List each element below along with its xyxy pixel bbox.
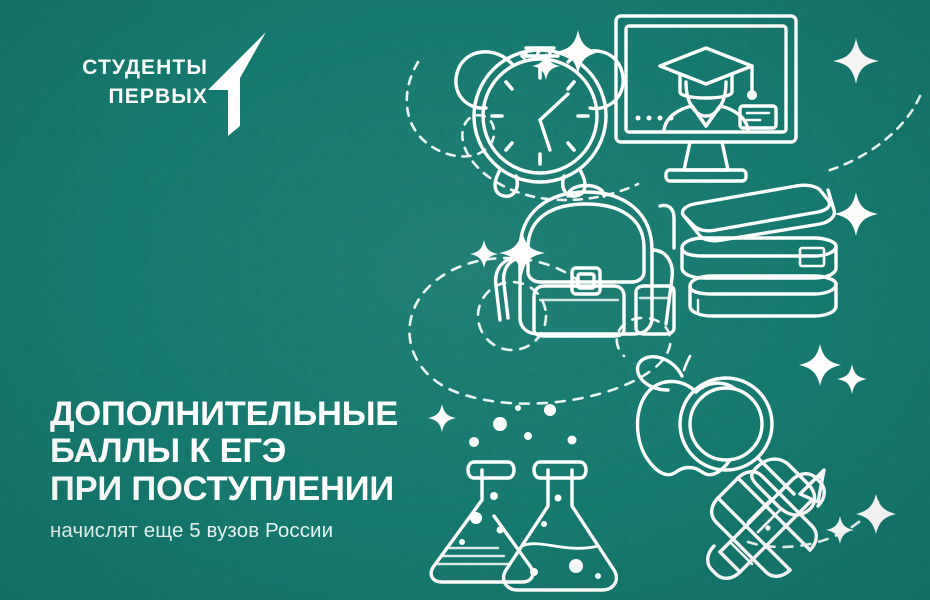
backpack-icon (496, 186, 674, 337)
headline-subtitle: начислят еще 5 вузов России (50, 519, 510, 543)
dashed-circle-small (478, 282, 546, 350)
brand-logo-line2: ПЕРВЫХ (48, 83, 208, 112)
dashed-arc-topright (824, 96, 920, 172)
headline-line-1: ДОПОЛНИТЕЛЬНЫЕ (50, 396, 510, 433)
alarm-clock-icon (456, 48, 623, 196)
brand-logo-text: СТУДЕНТЫ ПЕРВЫХ (48, 54, 208, 111)
dashed-arc-bottom (748, 502, 878, 547)
arrow-one-mark-icon (196, 30, 268, 138)
monitor-graduate-icon (616, 16, 796, 181)
books-stack-icon (682, 185, 836, 316)
dashed-loop-curve (407, 62, 638, 200)
brand-logo-line1: СТУДЕНТЫ (48, 54, 208, 83)
headline-line-3: ПРИ ПОСТУПЛЕНИИ (50, 471, 510, 508)
poster-canvas: СТУДЕНТЫ ПЕРВЫХ ДОПОЛНИТЕЛЬНЫЕ БАЛЛЫ К Е… (0, 0, 930, 600)
pen-pencil-cross-icon (708, 470, 825, 578)
apple-magnifier-icon (638, 356, 815, 515)
headline-line-2: БАЛЛЫ К ЕГЭ (50, 433, 510, 470)
headline-block: ДОПОЛНИТЕЛЬНЫЕ БАЛЛЫ К ЕГЭ ПРИ ПОСТУПЛЕН… (50, 396, 510, 543)
brand-logo[interactable]: СТУДЕНТЫ ПЕРВЫХ (48, 30, 258, 138)
dashed-swirl-large (409, 258, 670, 404)
